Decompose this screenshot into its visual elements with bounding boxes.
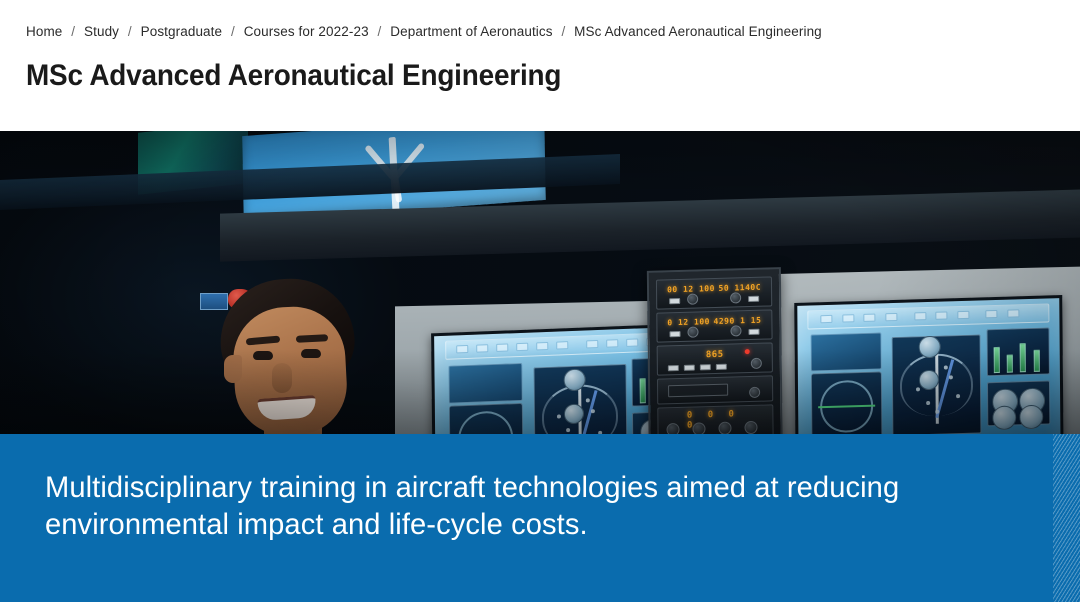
diagonal-hatch-decoration [1053,434,1080,602]
breadcrumb-item-courses[interactable]: Courses for 2022-23 [244,24,369,39]
eye [253,351,273,360]
breadcrumb-separator: / [373,24,387,39]
avionics-display-right [794,295,1064,434]
breadcrumb-separator: / [123,24,137,39]
display-hsi-window [811,371,882,434]
radio-frequency-display: 0 12 100 [667,317,710,327]
display-map-window [811,332,882,371]
nose [272,363,292,393]
transponder-code-display: 865 [706,350,724,360]
breadcrumb-separator: / [66,24,80,39]
breadcrumb-item-postgraduate[interactable]: Postgraduate [141,24,223,39]
radio-frequency-display: 50 1140C [718,283,761,293]
eye [301,349,321,358]
page-title: MSc Advanced Aeronautical Engineering [26,59,561,93]
breadcrumb-separator: / [226,24,240,39]
student-portrait [168,279,468,434]
radio-frequency-display: 4290 1 15 [713,316,761,326]
display-round-gauges [987,380,1050,426]
hero-image: 00 12 100 50 1140C 0 12 100 4290 1 15 86… [0,131,1080,434]
radio-avionics-stack: 00 12 100 50 1140C 0 12 100 4290 1 15 86… [647,267,783,434]
display-softkey-row [808,304,1049,330]
autopilot-row: 0 0 0 0 [657,404,773,434]
breadcrumb-item-study[interactable]: Study [84,24,119,39]
radio-row: 00 12 100 50 1140C [656,276,772,309]
cockpit-photo: 00 12 100 50 1140C 0 12 100 4290 1 15 86… [0,131,1080,434]
adf-row [657,375,773,404]
breadcrumb-separator: / [556,24,570,39]
page-root: Home / Study / Postgraduate / Courses fo… [0,0,1080,602]
breadcrumb-item-home[interactable]: Home [26,24,62,39]
strapline-banner: Multidisciplinary training in aircraft t… [0,434,1080,602]
page-header: Home / Study / Postgraduate / Courses fo… [0,0,1080,131]
transponder-row: 865 [657,342,773,375]
radio-row: 0 12 100 4290 1 15 [656,309,772,342]
strapline-text: Multidisciplinary training in aircraft t… [45,469,1015,543]
breadcrumb-item-department[interactable]: Department of Aeronautics [390,24,552,39]
breadcrumb: Home / Study / Postgraduate / Courses fo… [26,23,822,40]
breadcrumb-item-current: MSc Advanced Aeronautical Engineering [574,24,822,39]
display-engine-bars [986,327,1049,376]
ear [224,355,242,383]
